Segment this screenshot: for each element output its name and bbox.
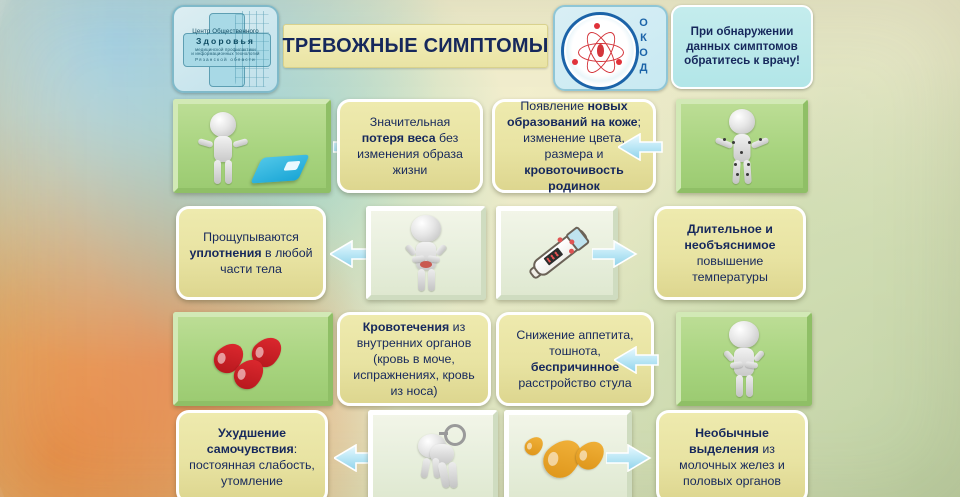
symptom-weakness: Ухудшение самочувствия: постоянная слабо… — [176, 410, 328, 497]
doctor-warning-box: При обнаружении данных симптомов обратит… — [671, 5, 813, 89]
symptom-lumps: Прощупываются уплотнения в любой части т… — [176, 206, 326, 300]
okod-letter-1: К — [631, 31, 657, 46]
symptom-discharge: Необычные выделения из молочных желез и … — [656, 410, 808, 497]
fatigue-illustration — [368, 410, 498, 497]
thermometer-icon — [523, 225, 591, 281]
weight-scale-icon — [250, 154, 310, 183]
okod-logo: О К О Д — [553, 5, 668, 91]
arrow-left-icon — [614, 346, 660, 374]
atom-electron-1 — [594, 23, 600, 29]
arrow-left-icon — [618, 133, 664, 161]
okod-letter-3: Д — [631, 61, 657, 76]
symptom-bleeding-text: Кровотечения из внутренних органов (кров… — [340, 319, 488, 400]
symptom-discharge-text: Необычные выделения из молочных желез и … — [659, 425, 805, 490]
thermometer-icon — [513, 210, 601, 296]
okod-letter-0: О — [631, 16, 657, 31]
exhausted-person-windup-key-icon — [400, 422, 466, 492]
okod-letter-2: О — [631, 46, 657, 61]
bleeding-illustration — [173, 312, 333, 406]
logo-line-2: Здоровья — [178, 37, 273, 46]
blood-drops-icon — [214, 328, 292, 390]
symptom-weight-loss-text: Значительная потеря веса без изменения о… — [340, 114, 480, 179]
symptom-fever-text: Длительное и необъяснимое повышение темп… — [657, 221, 803, 286]
okod-letters: О К О Д — [631, 16, 657, 76]
symptom-weakness-text: Ухудшение самочувствия: постоянная слабо… — [179, 425, 325, 490]
logo-line-1: Центр Общественного — [178, 29, 273, 36]
nausea-illustration — [676, 312, 812, 406]
atom-icon — [561, 12, 639, 90]
atom-electron-3 — [616, 59, 622, 65]
header: Центр Общественного Здоровья медицинской… — [0, 0, 960, 92]
person-with-scale-icon — [195, 108, 309, 184]
atom-nucleus-icon — [597, 44, 604, 57]
symptom-fever: Длительное и необъяснимое повышение темп… — [654, 206, 806, 300]
person-with-moles-icon — [714, 107, 770, 185]
page-title: ТРЕВОЖНЫЕ СИМПТОМЫ — [282, 35, 548, 58]
row-4: Ухудшение самочувствия: постоянная слабо… — [0, 410, 960, 497]
skin-moles-illustration — [676, 99, 808, 193]
row-2: Прощупываются уплотнения в любой части т… — [0, 206, 960, 300]
page-title-banner: ТРЕВОЖНЫЕ СИМПТОМЫ — [283, 24, 548, 68]
logo-line-4: и информационных технологий — [178, 52, 273, 57]
arrow-right-icon — [606, 444, 652, 472]
symptom-lumps-text: Прощупываются уплотнения в любой части т… — [179, 229, 323, 277]
doctor-warning-text: При обнаружении данных симптомов обратит… — [673, 25, 811, 69]
row-3: Кровотечения из внутренних органов (кров… — [0, 312, 960, 406]
center-public-health-logo: Центр Общественного Здоровья медицинской… — [172, 5, 279, 93]
atom-electron-2 — [572, 59, 578, 65]
infographic-root: Центр Общественного Здоровья медицинской… — [0, 0, 960, 497]
arrow-right-icon — [592, 240, 638, 268]
blood-drops-icon — [214, 328, 292, 390]
symptom-weight-loss: Значительная потеря веса без изменения о… — [337, 99, 483, 193]
weight-loss-illustration — [173, 99, 331, 193]
amber-drops-icon — [526, 426, 610, 488]
amber-drops-icon — [526, 426, 610, 488]
symptom-bleeding: Кровотечения из внутренних органов (кров… — [337, 312, 491, 406]
person-holding-stomach-icon — [717, 321, 771, 397]
person-touching-abdomen-icon — [399, 215, 453, 291]
row-1: Значительная потеря веса без изменения о… — [0, 99, 960, 193]
lump-palpation-illustration — [366, 206, 486, 300]
logo-line-5: Рязанской области — [178, 58, 273, 63]
